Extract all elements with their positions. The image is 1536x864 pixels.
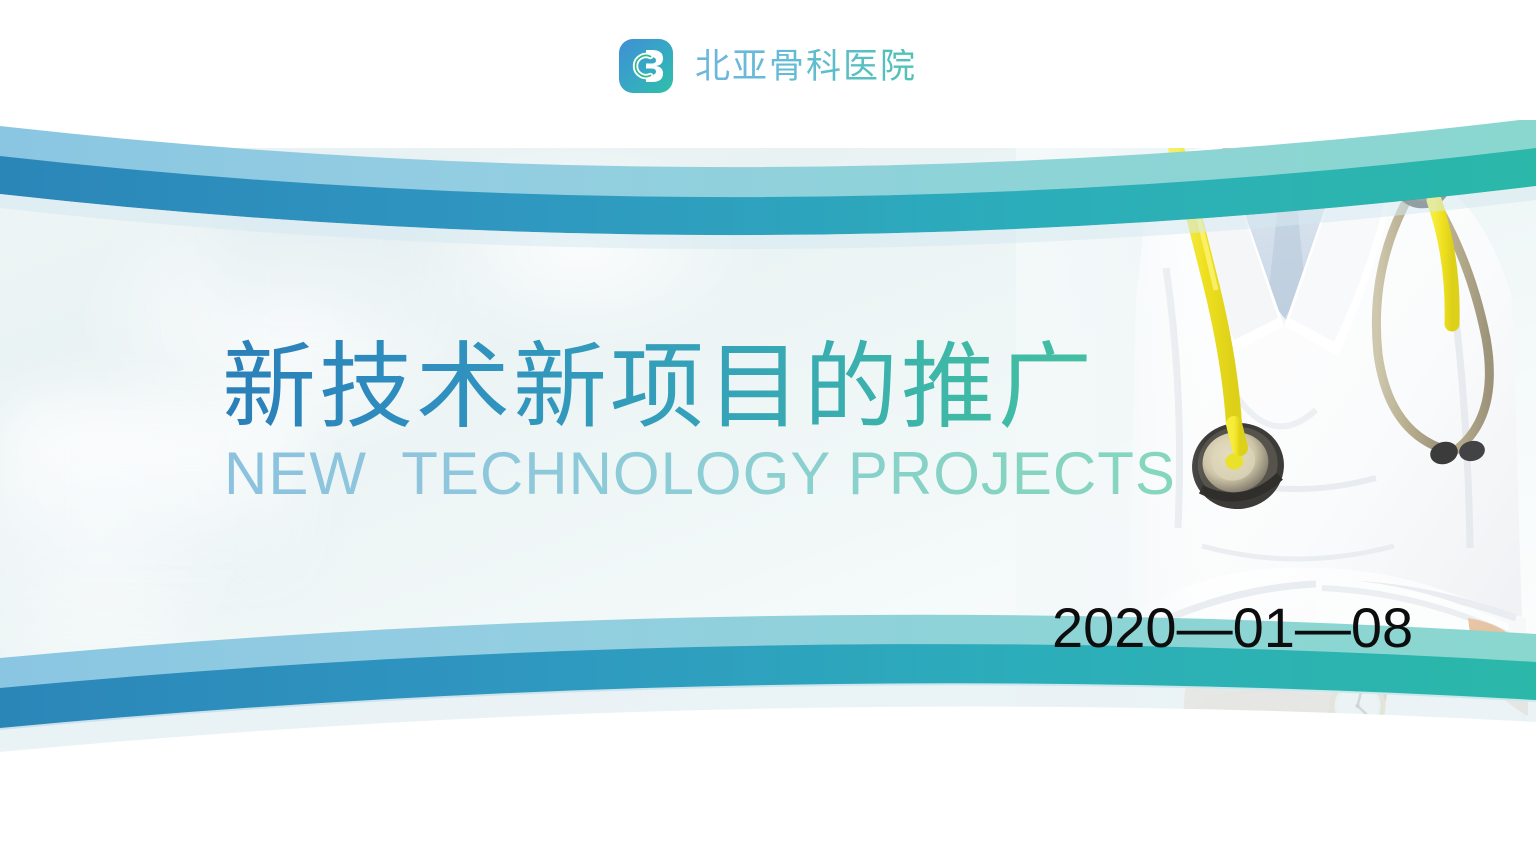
slide-header: 北亚骨科医院 bbox=[0, 0, 1536, 160]
presentation-date: 2020—01—08 bbox=[1052, 600, 1413, 656]
presentation-slide: 新技术新项目的推广 NEW TECHNOLOGY PROJECTS 2020—0… bbox=[0, 0, 1536, 864]
page-subtitle-english: NEW TECHNOLOGY PROJECTS bbox=[224, 444, 1176, 504]
page-title-chinese: 新技术新项目的推广 bbox=[222, 336, 1176, 438]
title-block: 新技术新项目的推广 NEW TECHNOLOGY PROJECTS bbox=[222, 336, 1176, 504]
brand-lockup[interactable]: 北亚骨科医院 bbox=[619, 39, 917, 93]
brand-name-label: 北亚骨科医院 bbox=[695, 49, 917, 84]
cb-monogram-logo-icon bbox=[619, 39, 673, 93]
